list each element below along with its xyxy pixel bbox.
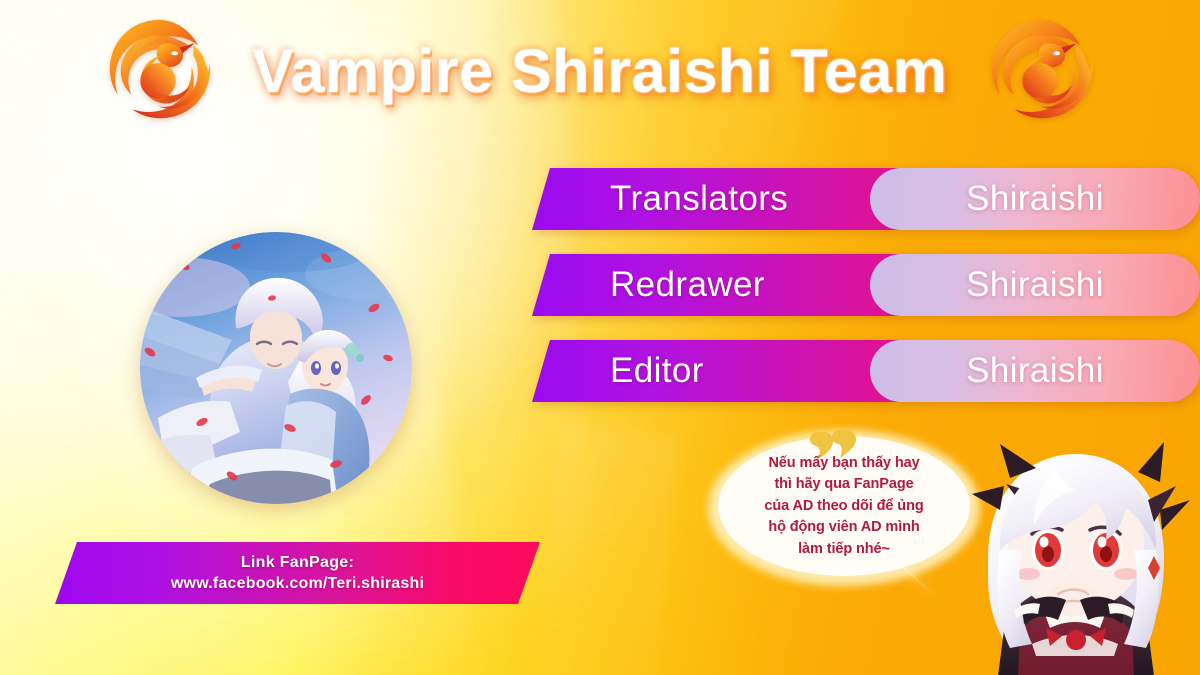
bubble-line: làm tiếp nhé~ bbox=[737, 539, 951, 560]
credit-row-redrawer: Redrawer Shiraishi bbox=[532, 254, 1200, 316]
phoenix-logo-icon-right bbox=[981, 12, 1101, 130]
header: Vampire Shiraishi Team bbox=[0, 0, 1200, 142]
fanpage-title: Link FanPage: bbox=[241, 554, 354, 572]
name-label: Shiraishi bbox=[966, 265, 1104, 305]
credits-page: Vampire Shiraishi Team bbox=[0, 0, 1200, 675]
role-label: Redrawer bbox=[610, 265, 765, 305]
page-title: Vampire Shiraishi Team bbox=[253, 36, 948, 106]
speech-bubble: Nếu mấy bạn thấy hay thì hãy qua FanPage… bbox=[703, 424, 985, 599]
role-label: Editor bbox=[610, 351, 704, 391]
name-label: Shiraishi bbox=[966, 179, 1104, 219]
fanpage-banner[interactable]: Link FanPage: www.facebook.com/Teri.shir… bbox=[55, 542, 540, 604]
fanpage-url-link[interactable]: www.facebook.com/Teri.shirashi bbox=[171, 575, 424, 593]
name-label: Shiraishi bbox=[966, 351, 1104, 391]
bubble-line: hộ động viên AD mình bbox=[737, 517, 951, 538]
bubble-line: thì hãy qua FanPage bbox=[737, 474, 951, 495]
bubble-line: Nếu mấy bạn thấy hay bbox=[737, 453, 951, 474]
name-pill: Shiraishi bbox=[870, 254, 1200, 316]
role-label: Translators bbox=[610, 179, 788, 219]
phoenix-logo-icon-left bbox=[99, 12, 219, 130]
name-pill: Shiraishi bbox=[870, 168, 1200, 230]
avatar bbox=[140, 232, 412, 504]
name-pill: Shiraishi bbox=[870, 340, 1200, 402]
chibi-mascot bbox=[948, 438, 1200, 675]
credits-list: Translators Shiraishi Redrawer Shiraishi… bbox=[532, 168, 1200, 402]
bubble-line: của AD theo dõi để ủng bbox=[737, 496, 951, 517]
credit-row-editor: Editor Shiraishi bbox=[532, 340, 1200, 402]
credit-row-translators: Translators Shiraishi bbox=[532, 168, 1200, 230]
bubble-text: Nếu mấy bạn thấy hay thì hãy qua FanPage… bbox=[737, 453, 951, 560]
